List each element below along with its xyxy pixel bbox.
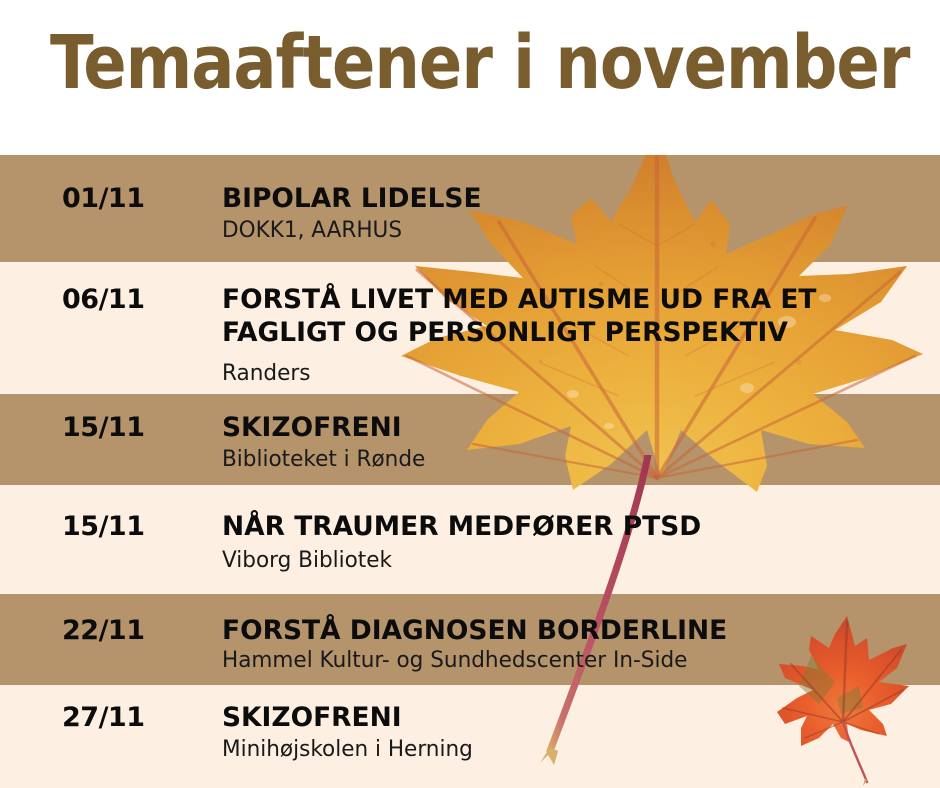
event-date: 15/11 bbox=[62, 412, 145, 443]
event-title: FORSTÅ LIVET MED AUTISME UD FRA ET FAGLI… bbox=[222, 283, 816, 349]
event-title: SKIZOFRENI bbox=[222, 701, 402, 734]
event-date: 27/11 bbox=[62, 702, 145, 733]
event-title: FORSTÅ DIAGNOSEN BORDERLINE bbox=[222, 614, 727, 647]
poster-canvas: Temaaftener i november 01/11 BIPOLAR LID… bbox=[0, 0, 940, 788]
event-venue: Viborg Bibliotek bbox=[222, 548, 392, 573]
event-date: 06/11 bbox=[62, 284, 145, 315]
event-date: 22/11 bbox=[62, 615, 145, 646]
event-date: 01/11 bbox=[62, 183, 145, 214]
event-date: 15/11 bbox=[62, 511, 145, 542]
event-venue: Minihøjskolen i Herning bbox=[222, 737, 473, 762]
event-title: BIPOLAR LIDELSE bbox=[222, 182, 482, 215]
event-venue: DOKK1, AARHUS bbox=[222, 218, 402, 243]
event-venue: Biblioteket i Rønde bbox=[222, 447, 425, 472]
event-title: SKIZOFRENI bbox=[222, 411, 402, 444]
event-title: NÅR TRAUMER MEDFØRER PTSD bbox=[222, 510, 701, 543]
title-band: Temaaftener i november bbox=[0, 0, 940, 155]
page-title: Temaaftener i november bbox=[50, 26, 909, 100]
event-venue: Randers bbox=[222, 361, 310, 386]
event-venue: Hammel Kultur- og Sundhedscenter In-Side bbox=[222, 648, 687, 673]
